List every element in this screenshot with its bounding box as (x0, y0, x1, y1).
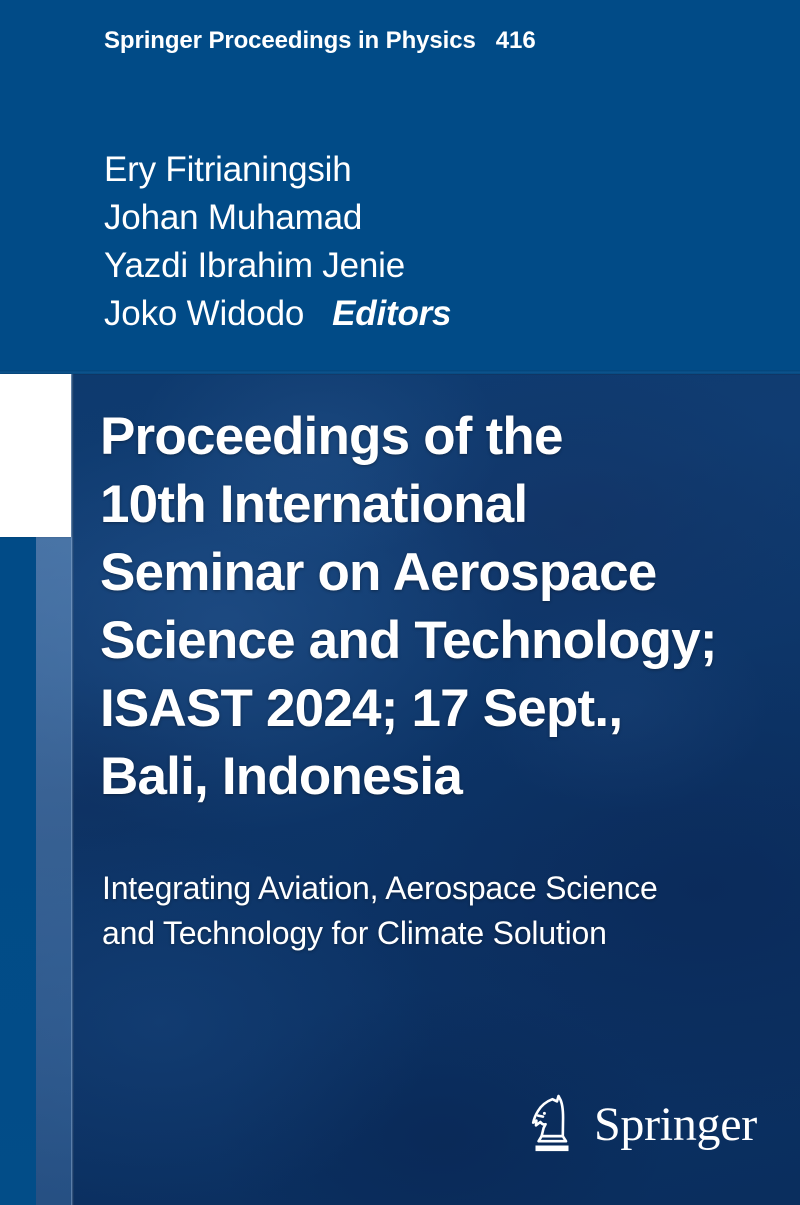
series-title: Springer Proceedings in Physics (104, 27, 476, 55)
book-cover: Springer Proceedings in Physics 416 Ery … (0, 0, 800, 1205)
editor-name-2: Johan Muhamad (104, 194, 451, 242)
title-line-4: Science and Technology; (100, 607, 760, 675)
subtitle-line-2: and Technology for Climate Solution (102, 911, 762, 956)
book-title: Proceedings of the 10th International Se… (100, 403, 760, 811)
book-subtitle: Integrating Aviation, Aerospace Science … (102, 866, 762, 956)
left-white-block (0, 374, 71, 537)
background-seam (0, 370, 800, 375)
springer-knight-icon (524, 1092, 580, 1158)
title-line-2: 10th International (100, 471, 760, 539)
publisher-logo: Springer (524, 1092, 757, 1158)
editor-name-1: Ery Fitrianingsih (104, 146, 451, 194)
editor-name-3: Yazdi Ibrahim Jenie (104, 242, 451, 290)
title-line-1: Proceedings of the (100, 403, 760, 471)
series-line: Springer Proceedings in Physics 416 (104, 27, 536, 55)
editors-role-label: Editors (332, 294, 451, 333)
subtitle-line-1: Integrating Aviation, Aerospace Science (102, 866, 762, 911)
title-line-6: Bali, Indonesia (100, 743, 760, 811)
series-volume: 416 (496, 27, 536, 55)
title-line-5: ISAST 2024; 17 Sept., (100, 675, 760, 743)
left-band-edge (71, 374, 74, 1205)
title-line-3: Seminar on Aerospace (100, 539, 760, 607)
editors-block: Ery Fitrianingsih Johan Muhamad Yazdi Ib… (104, 146, 451, 338)
editor-name-4: Joko Widodo (104, 294, 304, 333)
springer-wordmark: Springer (594, 1101, 757, 1149)
editor-name-4-row: Joko WidodoEditors (104, 290, 451, 338)
